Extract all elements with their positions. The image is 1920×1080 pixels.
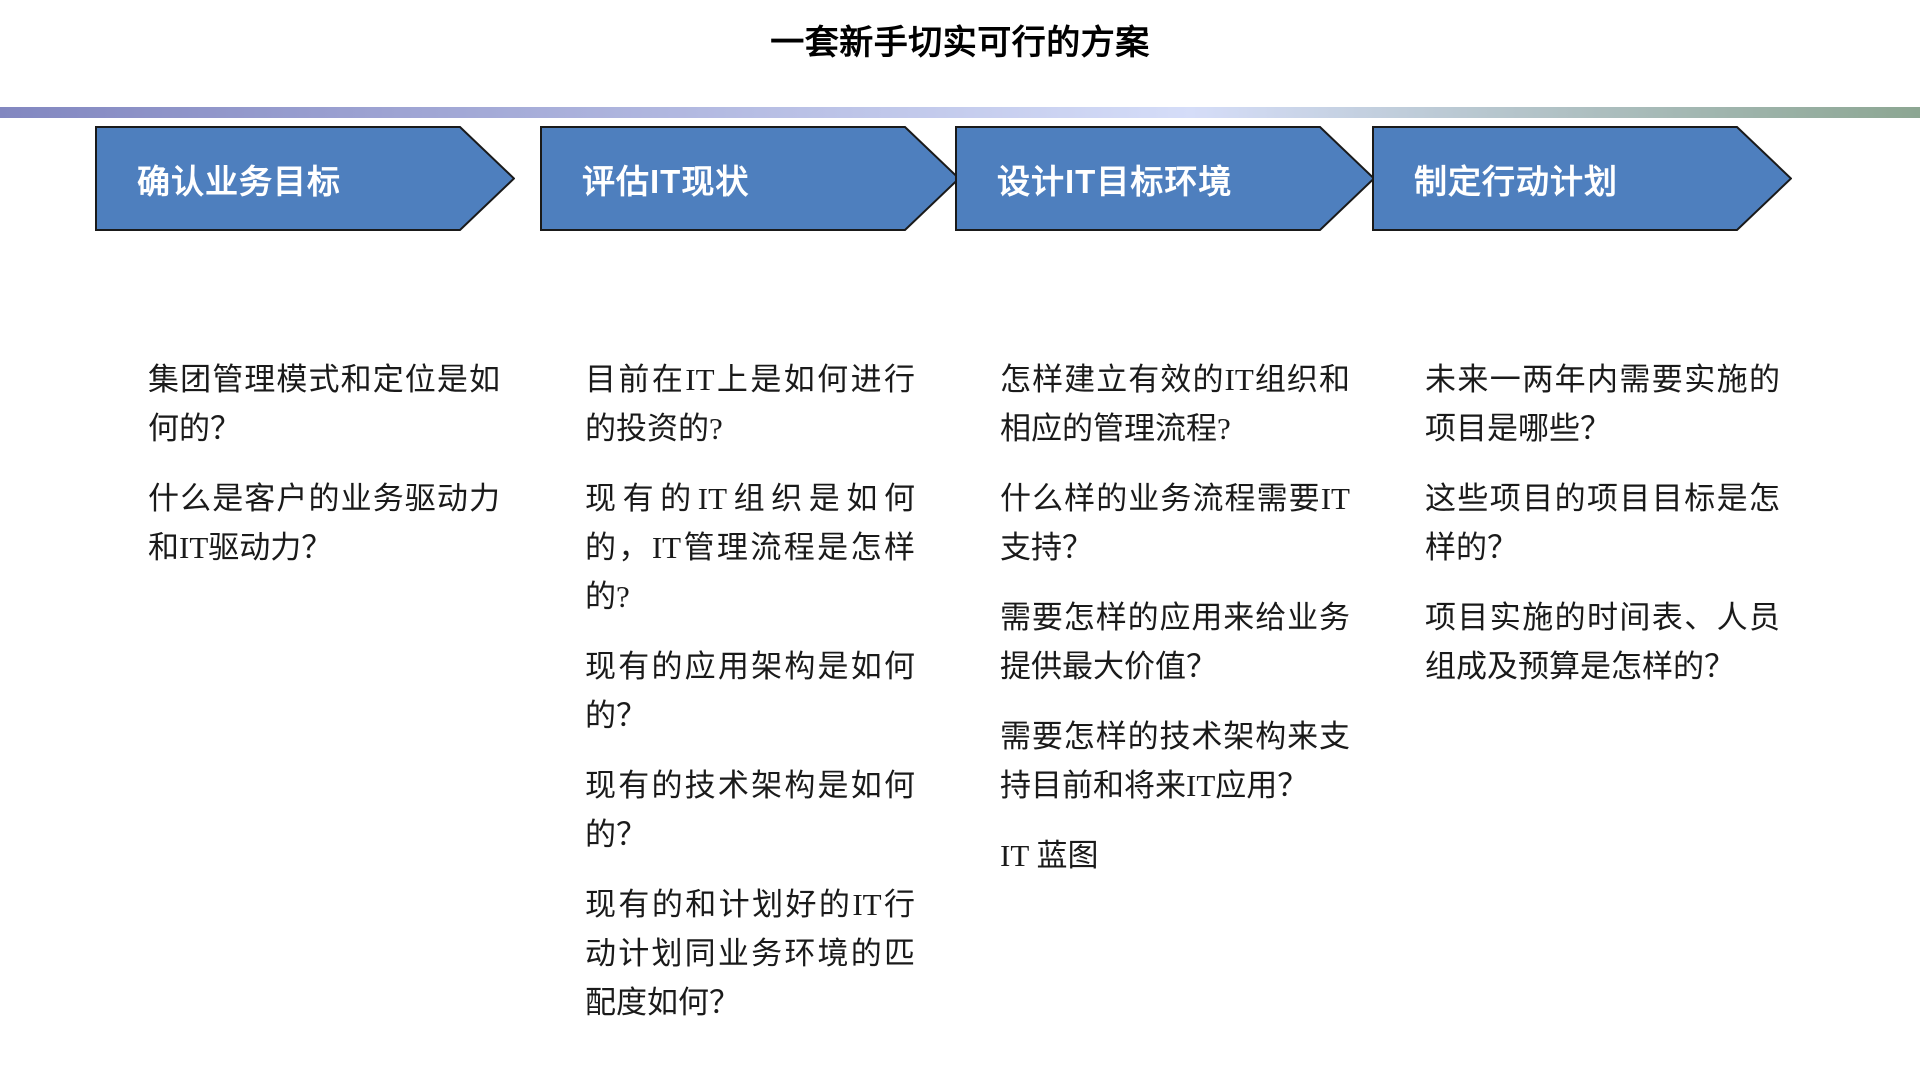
chevron-shape-icon (540, 126, 960, 231)
bullet-item: 什么样的业务流程需要IT支持？ (1000, 474, 1350, 572)
bullet-item: 这些项目的项目目标是怎样的？ (1425, 474, 1780, 572)
bullet-item: 什么是客户的业务驱动力和IT驱动力？ (148, 474, 500, 572)
phase-column-1: 集团管理模式和定位是如何的？ 什么是客户的业务驱动力和IT驱动力？ (148, 355, 500, 572)
bullet-item: 集团管理模式和定位是如何的？ (148, 355, 500, 453)
phase-detail-columns: 集团管理模式和定位是如何的？ 什么是客户的业务驱动力和IT驱动力？ 目前在IT上… (0, 355, 1920, 1055)
process-chevron-row: 确认业务目标 评估IT现状 设计IT目标环境 制定行动计划 (0, 126, 1920, 231)
slide-canvas: 一套新手切实可行的方案 确认业务目标 评估IT现状 设计IT目标环境 (0, 0, 1920, 1080)
bullet-item: 现有的和计划好的IT行动计划同业务环境的匹配度如何？ (585, 880, 915, 1027)
chevron-phase-4[interactable]: 制定行动计划 (1372, 126, 1792, 231)
bullet-item: 怎样建立有效的IT组织和相应的管理流程? (1000, 355, 1350, 453)
slide-title-bar: 一套新手切实可行的方案 (0, 22, 1920, 64)
bullet-item: IT 蓝图 (1000, 831, 1350, 880)
chevron-phase-3[interactable]: 设计IT目标环境 (955, 126, 1375, 231)
phase-column-4: 未来一两年内需要实施的项目是哪些？ 这些项目的项目目标是怎样的？ 项目实施的时间… (1425, 355, 1780, 691)
chevron-phase-1[interactable]: 确认业务目标 (95, 126, 515, 231)
chevron-shape-icon (1372, 126, 1792, 231)
chevron-phase-2[interactable]: 评估IT现状 (540, 126, 960, 231)
page-title: 一套新手切实可行的方案 (770, 22, 1150, 64)
chevron-shape-icon (955, 126, 1375, 231)
bullet-item: 现有的IT组织是如何的，IT管理流程是怎样的? (585, 474, 915, 621)
bullet-item: 需要怎样的技术架构来支持目前和将来IT应用？ (1000, 712, 1350, 810)
phase-column-3: 怎样建立有效的IT组织和相应的管理流程? 什么样的业务流程需要IT支持？ 需要怎… (1000, 355, 1350, 880)
bullet-item: 现有的技术架构是如何的？ (585, 761, 915, 859)
bullet-item: 项目实施的时间表、人员组成及预算是怎样的？ (1425, 593, 1780, 691)
bullet-item: 现有的应用架构是如何的？ (585, 642, 915, 740)
bullet-item: 目前在IT上是如何进行的投资的? (585, 355, 915, 453)
bullet-item: 需要怎样的应用来给业务提供最大价值？ (1000, 593, 1350, 691)
chevron-shape-icon (95, 126, 515, 231)
bullet-item: 未来一两年内需要实施的项目是哪些？ (1425, 355, 1780, 453)
phase-column-2: 目前在IT上是如何进行的投资的? 现有的IT组织是如何的，IT管理流程是怎样的?… (585, 355, 915, 1027)
gradient-divider (0, 107, 1920, 118)
